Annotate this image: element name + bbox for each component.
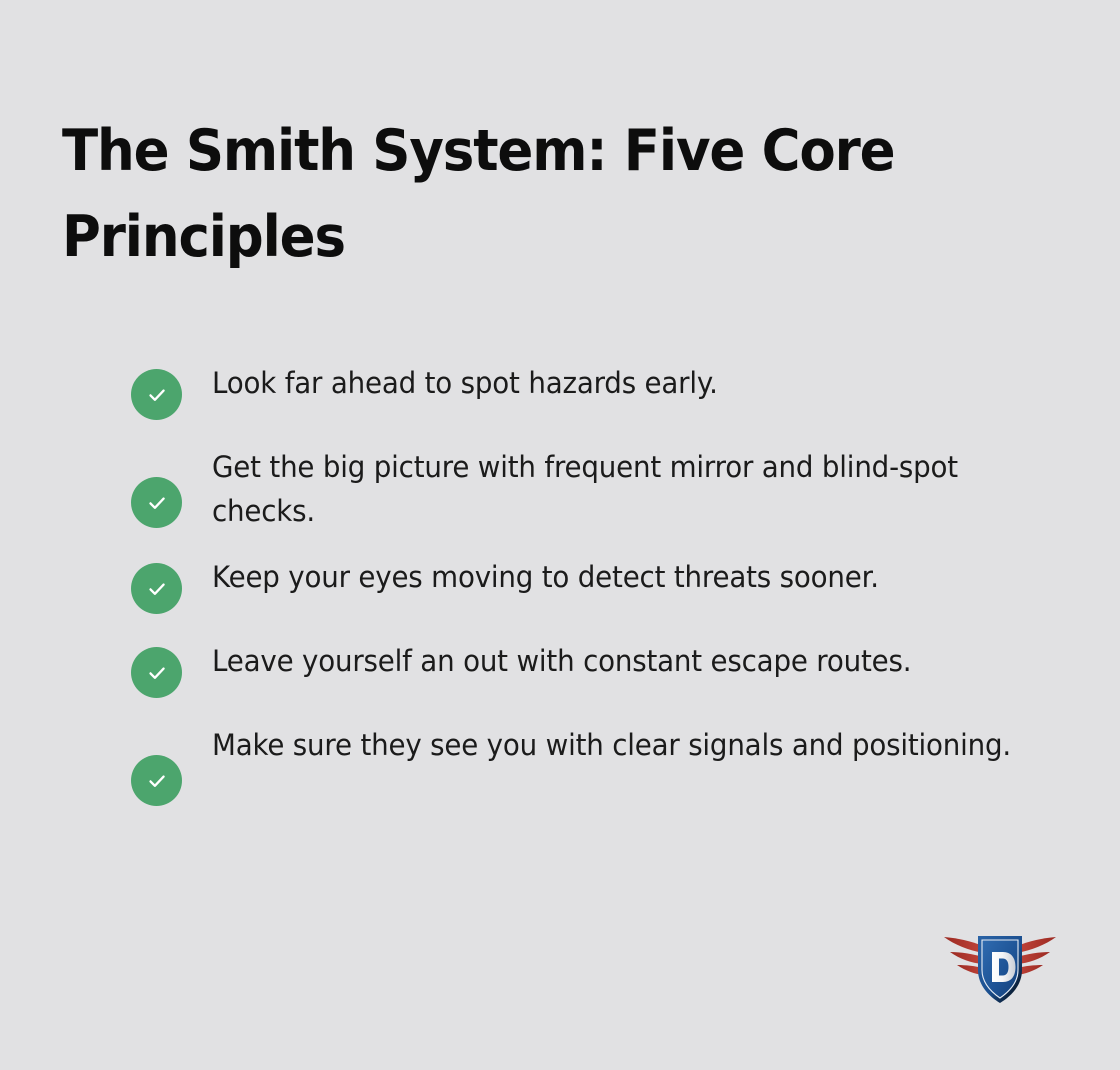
right-wing <box>1017 937 1056 975</box>
slide-canvas: The Smith System: Five Core Principles L… <box>0 0 1120 1070</box>
list-item-label: Get the big picture with frequent mirror… <box>212 445 1013 533</box>
list-item: Look far ahead to spot hazards early. <box>131 361 1051 427</box>
list-item: Get the big picture with frequent mirror… <box>131 445 1051 533</box>
list-item-label: Leave yourself an out with constant esca… <box>212 639 1013 683</box>
check-icon <box>131 647 182 698</box>
principles-list: Look far ahead to spot hazards early. Ge… <box>131 361 1051 828</box>
check-icon <box>131 477 182 528</box>
list-item-label: Look far ahead to spot hazards early. <box>212 361 1013 405</box>
list-item: Make sure they see you with clear signal… <box>131 723 1051 806</box>
list-item-label: Keep your eyes moving to detect threats … <box>212 555 1013 599</box>
page-title: The Smith System: Five Core Principles <box>62 108 927 280</box>
check-icon <box>131 563 182 614</box>
list-item: Leave yourself an out with constant esca… <box>131 639 1051 705</box>
shield-wings-logo <box>941 929 1059 1009</box>
list-item: Keep your eyes moving to detect threats … <box>131 555 1051 621</box>
check-icon <box>131 369 182 420</box>
check-icon <box>131 755 182 806</box>
left-wing <box>944 937 983 975</box>
list-item-label: Make sure they see you with clear signal… <box>212 723 1013 767</box>
